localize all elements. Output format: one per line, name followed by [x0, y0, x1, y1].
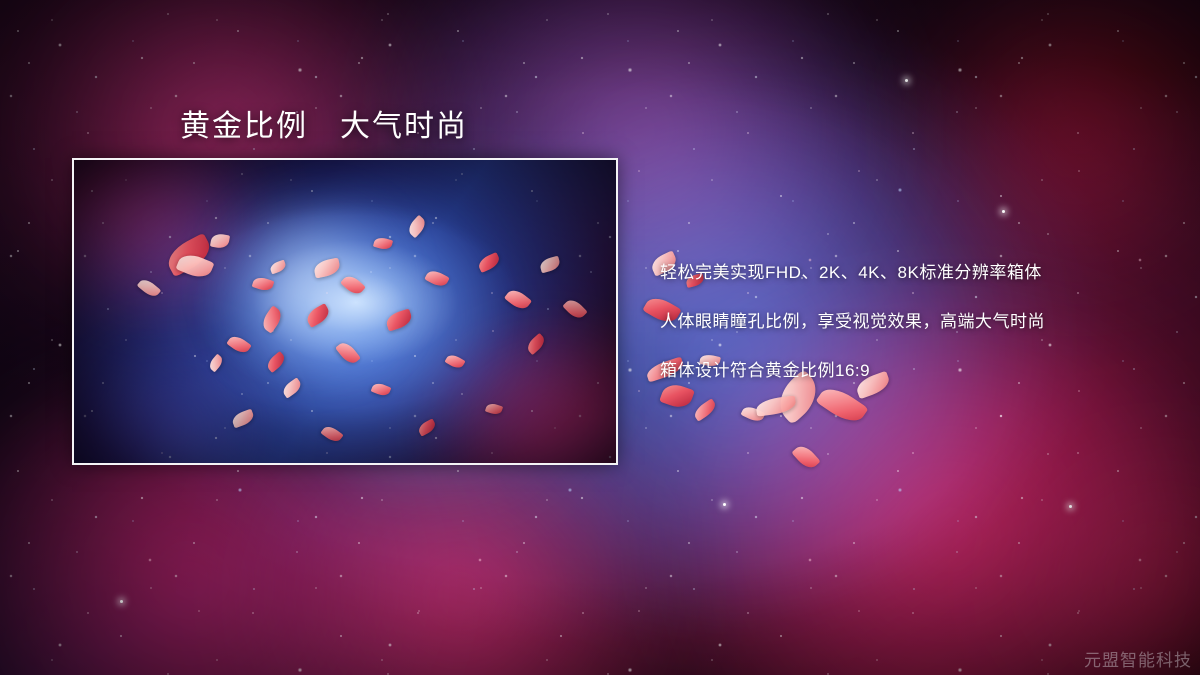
body-text-block: 轻松完美实现FHD、2K、4K、8K标准分辨率箱体 人体眼睛瞳孔比例，享受视觉效…: [660, 258, 1045, 381]
page-title: 黄金比例 大气时尚: [180, 101, 468, 145]
body-line-1: 轻松完美实现FHD、2K、4K、8K标准分辨率箱体: [660, 258, 1045, 283]
watermark: 元盟智能科技: [1084, 646, 1192, 671]
showcase-image: [74, 160, 616, 463]
presentation-slide: 黄金比例 大气时尚: [0, 0, 1200, 675]
showcase-image-frame: [72, 158, 618, 465]
body-line-3: 箱体设计符合黄金比例16:9: [660, 356, 1045, 381]
body-line-2: 人体眼睛瞳孔比例，享受视觉效果，高端大气时尚: [660, 307, 1045, 332]
frame-vignette: [74, 160, 616, 463]
